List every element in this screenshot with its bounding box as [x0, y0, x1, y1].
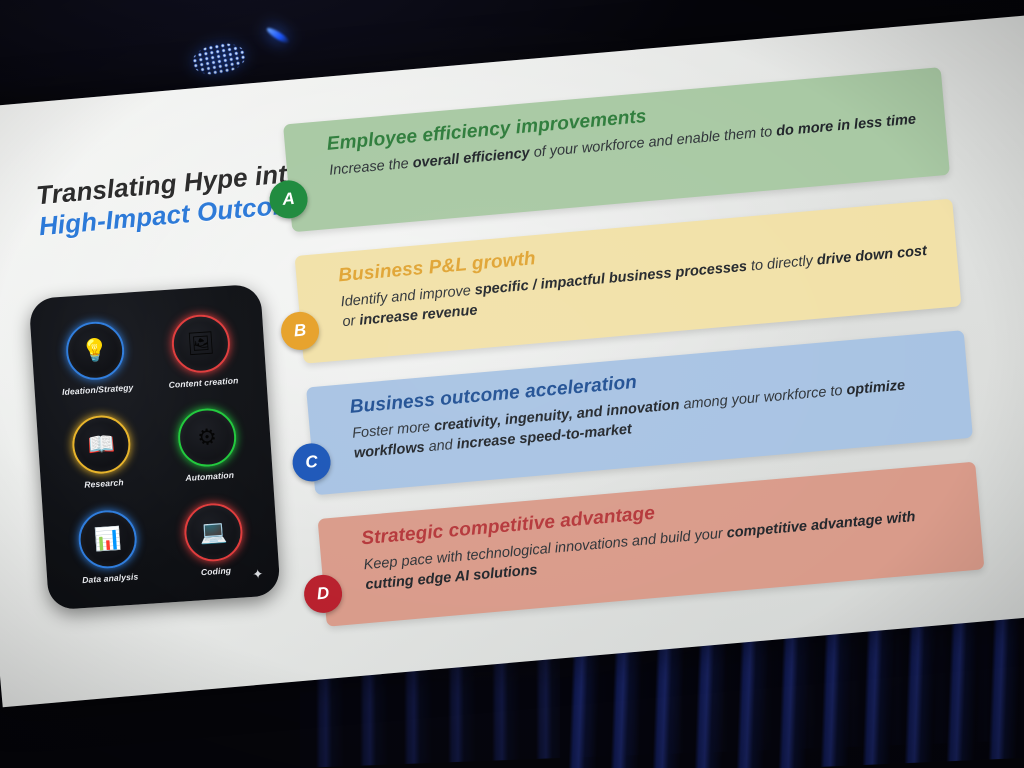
icon-glyph: 📊 [93, 528, 122, 552]
capability-item: 📊Data analysis [52, 496, 164, 597]
slide-content: Translating Hype into High-Impact Outcom… [0, 9, 1024, 707]
capability-item-label: Data analysis [82, 572, 139, 586]
icon-glyph: 💻 [199, 521, 228, 545]
capability-item-label: Automation [185, 470, 234, 483]
projection-screen-wrap: Translating Hype into High-Impact Outcom… [0, 0, 1024, 717]
lightbulb-icon: 💡 [64, 320, 126, 382]
icon-glyph: 💡 [81, 339, 110, 363]
outcome-bar-d: Strategic competitive advantageKeep pace… [318, 462, 985, 627]
robot-arm-icon: ⚙ [176, 407, 238, 469]
capability-icon-card: 💡Ideation/Strategy🖼Content creation📖Rese… [29, 284, 281, 611]
capability-icon-grid: 💡Ideation/Strategy🖼Content creation📖Rese… [29, 284, 281, 611]
icon-glyph: ⚙ [197, 426, 218, 449]
capability-item: 💡Ideation/Strategy [40, 307, 152, 408]
capability-item: 🖼Content creation [145, 300, 257, 401]
sparkle-icon: ✦ [252, 566, 264, 583]
capability-item-label: Research [84, 478, 124, 491]
capability-item-label: Coding [201, 565, 232, 577]
capability-item-label: Ideation/Strategy [62, 382, 134, 397]
content-creation-icon: 🖼 [170, 313, 232, 375]
photo-of-conference-slide: Translating Hype into High-Impact Outcom… [0, 0, 1024, 768]
icon-glyph: 🖼 [186, 332, 215, 356]
data-chart-icon: 📊 [77, 509, 139, 571]
open-book-icon: 📖 [71, 414, 133, 476]
capability-item-label: Content creation [168, 375, 238, 390]
outcome-bars: Employee efficiency improvementsIncrease… [283, 64, 1024, 663]
coding-icon: 💻 [183, 502, 245, 564]
icon-glyph: 📖 [87, 433, 116, 457]
capability-item: 📖Research [46, 402, 158, 503]
capability-item: ⚙Automation [152, 395, 264, 496]
